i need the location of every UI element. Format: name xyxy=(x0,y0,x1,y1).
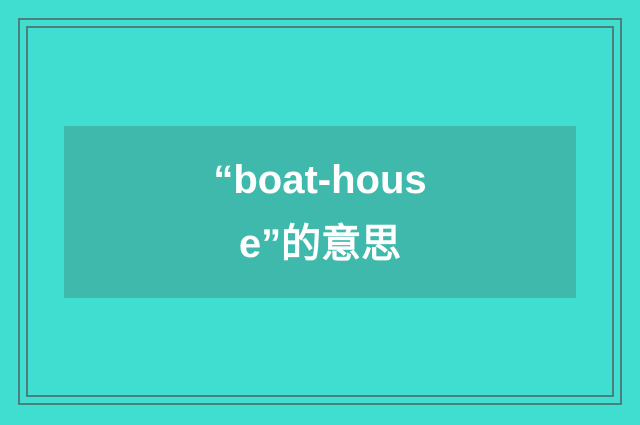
title-panel: “boat-house”的意思 xyxy=(64,126,576,298)
page-title: “boat-house”的意思 xyxy=(205,148,435,276)
screenshot-canvas: “boat-house”的意思 xyxy=(0,0,640,425)
